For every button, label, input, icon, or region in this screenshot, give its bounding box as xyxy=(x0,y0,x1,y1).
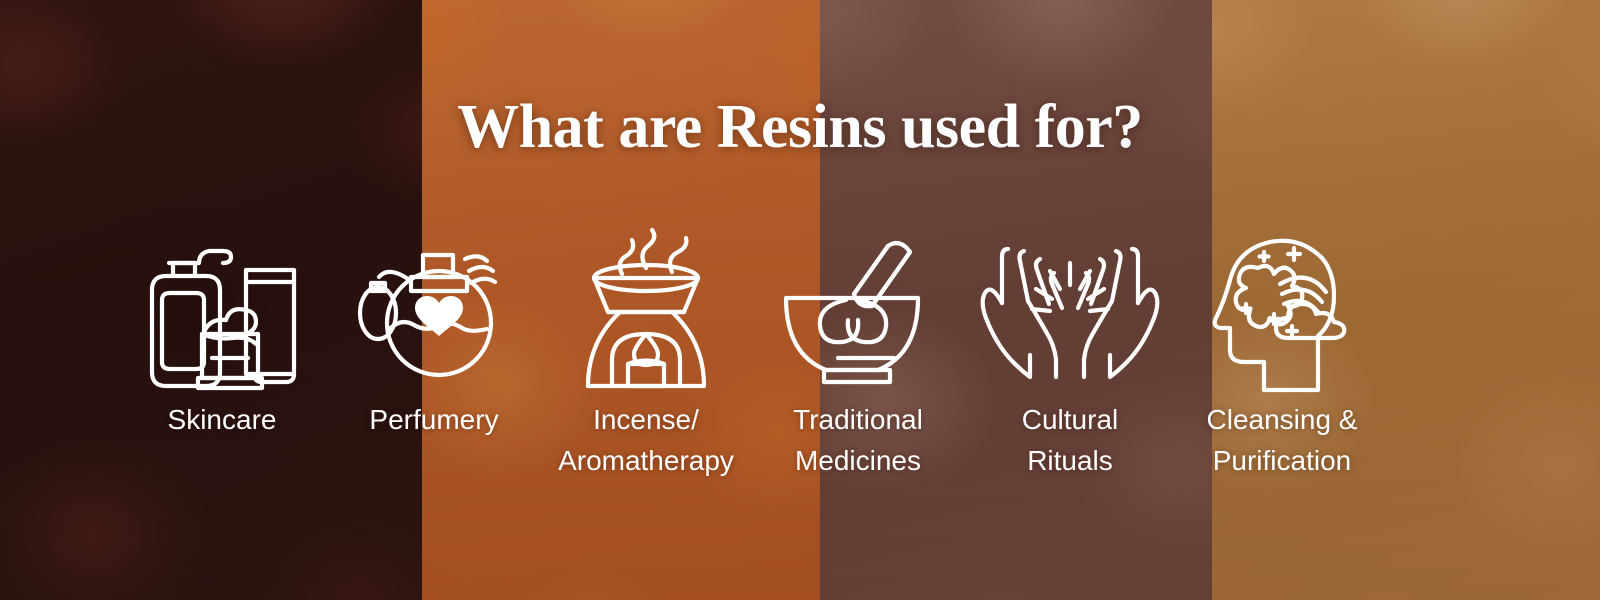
use-item-label: Cleansing & Purification xyxy=(1207,400,1358,481)
use-item-skincare: Skincare xyxy=(116,225,328,441)
perfume-bottle-icon xyxy=(359,225,509,400)
mortar-pestle-icon xyxy=(780,225,936,400)
open-hands-icon xyxy=(984,225,1156,400)
use-item-label: Incense/ Aromatherapy xyxy=(558,400,734,481)
use-item-incense-aromatherapy: Incense/ Aromatherapy xyxy=(540,225,752,481)
use-item-label: Traditional Medicines xyxy=(793,400,923,481)
oil-burner-icon xyxy=(576,225,716,400)
skincare-products-icon xyxy=(142,225,302,400)
resins-uses-banner: What are Resins used for? xyxy=(0,0,1600,600)
use-item-cultural-rituals: Cultural Rituals xyxy=(964,225,1176,481)
mindful-head-icon xyxy=(1216,225,1348,400)
banner-title: What are Resins used for? xyxy=(0,96,1600,158)
use-item-label: Skincare xyxy=(168,400,277,441)
use-item-traditional-medicines: Traditional Medicines xyxy=(752,225,964,481)
use-item-label: Cultural Rituals xyxy=(1022,400,1118,481)
use-item-perfumery: Perfumery xyxy=(328,225,540,441)
use-item-cleansing-purification: Cleansing & Purification xyxy=(1176,225,1388,481)
use-item-label: Perfumery xyxy=(369,400,498,441)
uses-row: Skincare xyxy=(0,225,1600,525)
